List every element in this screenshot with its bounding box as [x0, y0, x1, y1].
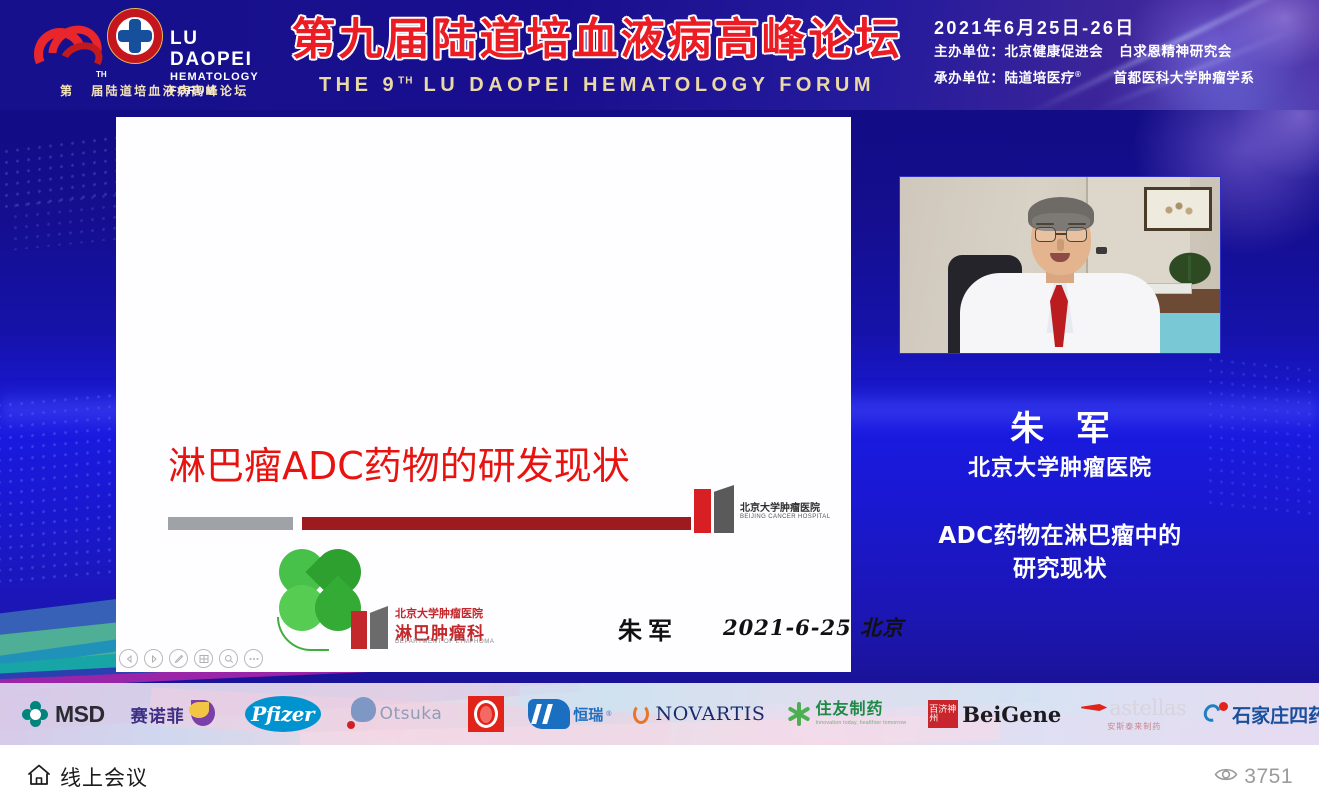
title-en-post: LU DAOPEI HEMATOLOGY FORUM: [414, 74, 876, 96]
sponsor-name-beigene: BeiGene: [962, 702, 1061, 727]
presentation-slide[interactable]: 淋巴瘤ADC药物的研发现状 北京大学肿瘤医院 BEIJING CANCER HO…: [116, 117, 851, 672]
otsuka-mark-icon: [347, 697, 377, 731]
logo-chinese-name: 第 届陆道培血液病高峰论坛: [60, 82, 249, 99]
slide-divider-gray: [168, 517, 293, 530]
dot-pattern-decoration: [10, 189, 120, 251]
dept-name-en: DEPARTMENT OF LYMPHOMA: [395, 639, 494, 645]
sponsor-name-novartis: NOVARTIS: [655, 703, 765, 725]
msd-mark-icon: [22, 701, 48, 727]
event-header-banner: LU DAOPEI HEMATOLOGY FORUM TH 第 届陆道培血液病高…: [0, 0, 1319, 110]
slide-date-place: 2021-6-25 北京: [723, 612, 904, 642]
logo-en-line1: LU DAOPEI: [170, 28, 272, 70]
sponsor-logo-astellas[interactable]: astellas 安斯泰来制药: [1081, 692, 1186, 736]
red-box-mark-icon: [468, 696, 504, 732]
speaker-name: 朱 军: [884, 408, 1236, 450]
sponsor-logo-shijiazhuang-siyao[interactable]: 石家庄四药: [1202, 692, 1319, 736]
page-footer: 线上会议 3751: [0, 745, 1319, 809]
more-options-icon[interactable]: [244, 649, 263, 668]
event-title-english: THE 9TH LU DAOPEI HEMATOLOGY FORUM: [272, 74, 922, 97]
home-icon: [26, 763, 52, 792]
event-info-block: 2021年6月25日-26日 主办单位：北京健康促进会白求恩精神研究会 承办单位…: [934, 16, 1255, 90]
sponsor-logo-sumitomo[interactable]: 住友制药 Innovation today, healthier tomorro…: [787, 692, 906, 736]
hospital-name-en: BEIJING CANCER HOSPITAL: [740, 514, 830, 520]
sponsor-name-msd: MSD: [55, 701, 105, 728]
sponsor-logo-hengrui[interactable]: 恒瑞 ®: [528, 692, 611, 736]
eye-icon: [1214, 766, 1238, 788]
event-host-1: 主办单位：北京健康促进会: [934, 44, 1103, 59]
hengrui-registered-mark: ®: [606, 711, 611, 718]
sponsor-logo-novartis[interactable]: NOVARTIS: [633, 692, 765, 736]
event-organizer-2: 首都医科大学肿瘤学系: [1114, 71, 1255, 86]
video-speaker-hair: [1028, 197, 1094, 231]
speaker-topic-line2: 研究现状: [884, 553, 1236, 586]
zoom-magnifier-icon[interactable]: [219, 649, 238, 668]
event-host-line: 主办单位：北京健康促进会白求恩精神研究会: [934, 40, 1255, 63]
title-en-pre: THE 9: [319, 74, 398, 96]
sponsor-logo-sanofi[interactable]: 赛诺菲: [131, 692, 219, 736]
play-slide-icon[interactable]: [144, 649, 163, 668]
slide-grid-icon[interactable]: [194, 649, 213, 668]
sanofi-swirl-icon: [189, 700, 219, 728]
medical-seal-icon: [107, 8, 163, 64]
event-date: 2021年6月25日-26日: [934, 16, 1255, 40]
video-speaker-nose: [1057, 239, 1064, 251]
sponsor-logo-bar: MSD 赛诺菲 Pfizer Otsuka 恒瑞 ®: [0, 683, 1319, 745]
view-count: 3751: [1244, 765, 1293, 789]
sponsor-logo-pfizer[interactable]: Pfizer: [245, 692, 321, 736]
astellas-arrow-icon: [1081, 698, 1107, 718]
view-count-block: 3751: [1214, 765, 1293, 789]
sponsor-name-beigene-cn: 百济神州: [928, 700, 958, 728]
slide-control-bar[interactable]: [119, 649, 263, 668]
hengrui-mark-icon: [528, 699, 570, 729]
speaker-topic: ADC药物在淋巴瘤中的 研究现状: [884, 520, 1236, 586]
slide-divider-red: [302, 517, 691, 530]
previous-slide-icon[interactable]: [119, 649, 138, 668]
event-host-2: 白求恩精神研究会: [1119, 44, 1232, 59]
sponsor-name-sumitomo: 住友制药: [815, 702, 906, 718]
live-stream-page: LU DAOPEI HEMATOLOGY FORUM TH 第 届陆道培血液病高…: [0, 0, 1319, 809]
lu-daopei-logo: LU DAOPEI HEMATOLOGY FORUM TH 第 届陆道培血液病高…: [22, 6, 272, 104]
sponsor-logo-msd[interactable]: MSD: [22, 692, 105, 736]
sponsor-name-astellas-cn: 安斯泰来制药: [1107, 721, 1161, 732]
sumitomo-star-icon: [787, 702, 811, 726]
logo-cn-prefix: 第: [60, 84, 74, 98]
home-link[interactable]: 线上会议: [26, 762, 148, 792]
video-doorknob: [1096, 247, 1107, 254]
sponsor-name-siyao: 石家庄四药: [1232, 701, 1319, 728]
annotate-pen-icon[interactable]: [169, 649, 188, 668]
sponsor-name-otsuka: Otsuka: [380, 704, 443, 724]
sponsor-name-pfizer: Pfizer: [251, 702, 314, 726]
registered-mark: ®: [1075, 70, 1082, 79]
slide-title: 淋巴瘤ADC药物的研发现状: [168, 435, 630, 490]
live-speaker-video[interactable]: [899, 176, 1221, 354]
sponsor-name-hengrui: 恒瑞: [573, 704, 603, 725]
pfizer-oval-icon: Pfizer: [245, 696, 321, 732]
logo-ordinal-sup: TH: [96, 70, 107, 79]
sponsor-logo-otsuka[interactable]: Otsuka: [347, 692, 443, 736]
home-label: 线上会议: [60, 762, 148, 792]
sponsor-logo-beigene[interactable]: 百济神州 BeiGene: [928, 692, 1061, 736]
speaker-topic-line1: ADC药物在淋巴瘤中的: [884, 520, 1236, 553]
hospital-name-cn: 北京大学肿瘤医院: [740, 499, 820, 514]
speaker-info-panel: 朱 军 北京大学肿瘤医院 ADC药物在淋巴瘤中的 研究现状: [884, 408, 1236, 586]
sponsor-name-astellas: astellas: [1109, 696, 1186, 720]
title-en-sup: TH: [398, 75, 413, 86]
siyao-mark-icon: [1202, 702, 1228, 726]
slide-author: 朱军: [618, 611, 678, 646]
event-organizer-1: 承办单位：陆道培医疗: [934, 71, 1075, 86]
logo-cn-rest: 届陆道培血液病高峰论坛: [91, 84, 248, 98]
speaker-organization: 北京大学肿瘤医院: [884, 452, 1236, 486]
presentation-stage: 淋巴瘤ADC药物的研发现状 北京大学肿瘤医院 BEIJING CANCER HO…: [0, 110, 1319, 683]
lymphoma-department-logo: 北京大学肿瘤医院 淋巴肿瘤科 DEPARTMENT OF LYMPHOMA: [351, 603, 581, 651]
sponsor-logo-red-box[interactable]: [468, 692, 504, 736]
novartis-flame-icon: [633, 701, 650, 727]
sponsor-tagline-sumitomo: Innovation today, healthier tomorrow: [815, 721, 906, 726]
video-wall-frame: [1144, 187, 1212, 231]
event-title-chinese: 第九届陆道培血液病高峰论坛: [272, 15, 922, 65]
sponsor-name-sanofi: 赛诺菲: [131, 702, 185, 727]
beijing-cancer-hospital-logo: 北京大学肿瘤医院 BEIJING CANCER HOSPITAL: [694, 485, 834, 537]
event-organizer-line: 承办单位：陆道培医疗®首都医科大学肿瘤学系: [934, 63, 1255, 90]
